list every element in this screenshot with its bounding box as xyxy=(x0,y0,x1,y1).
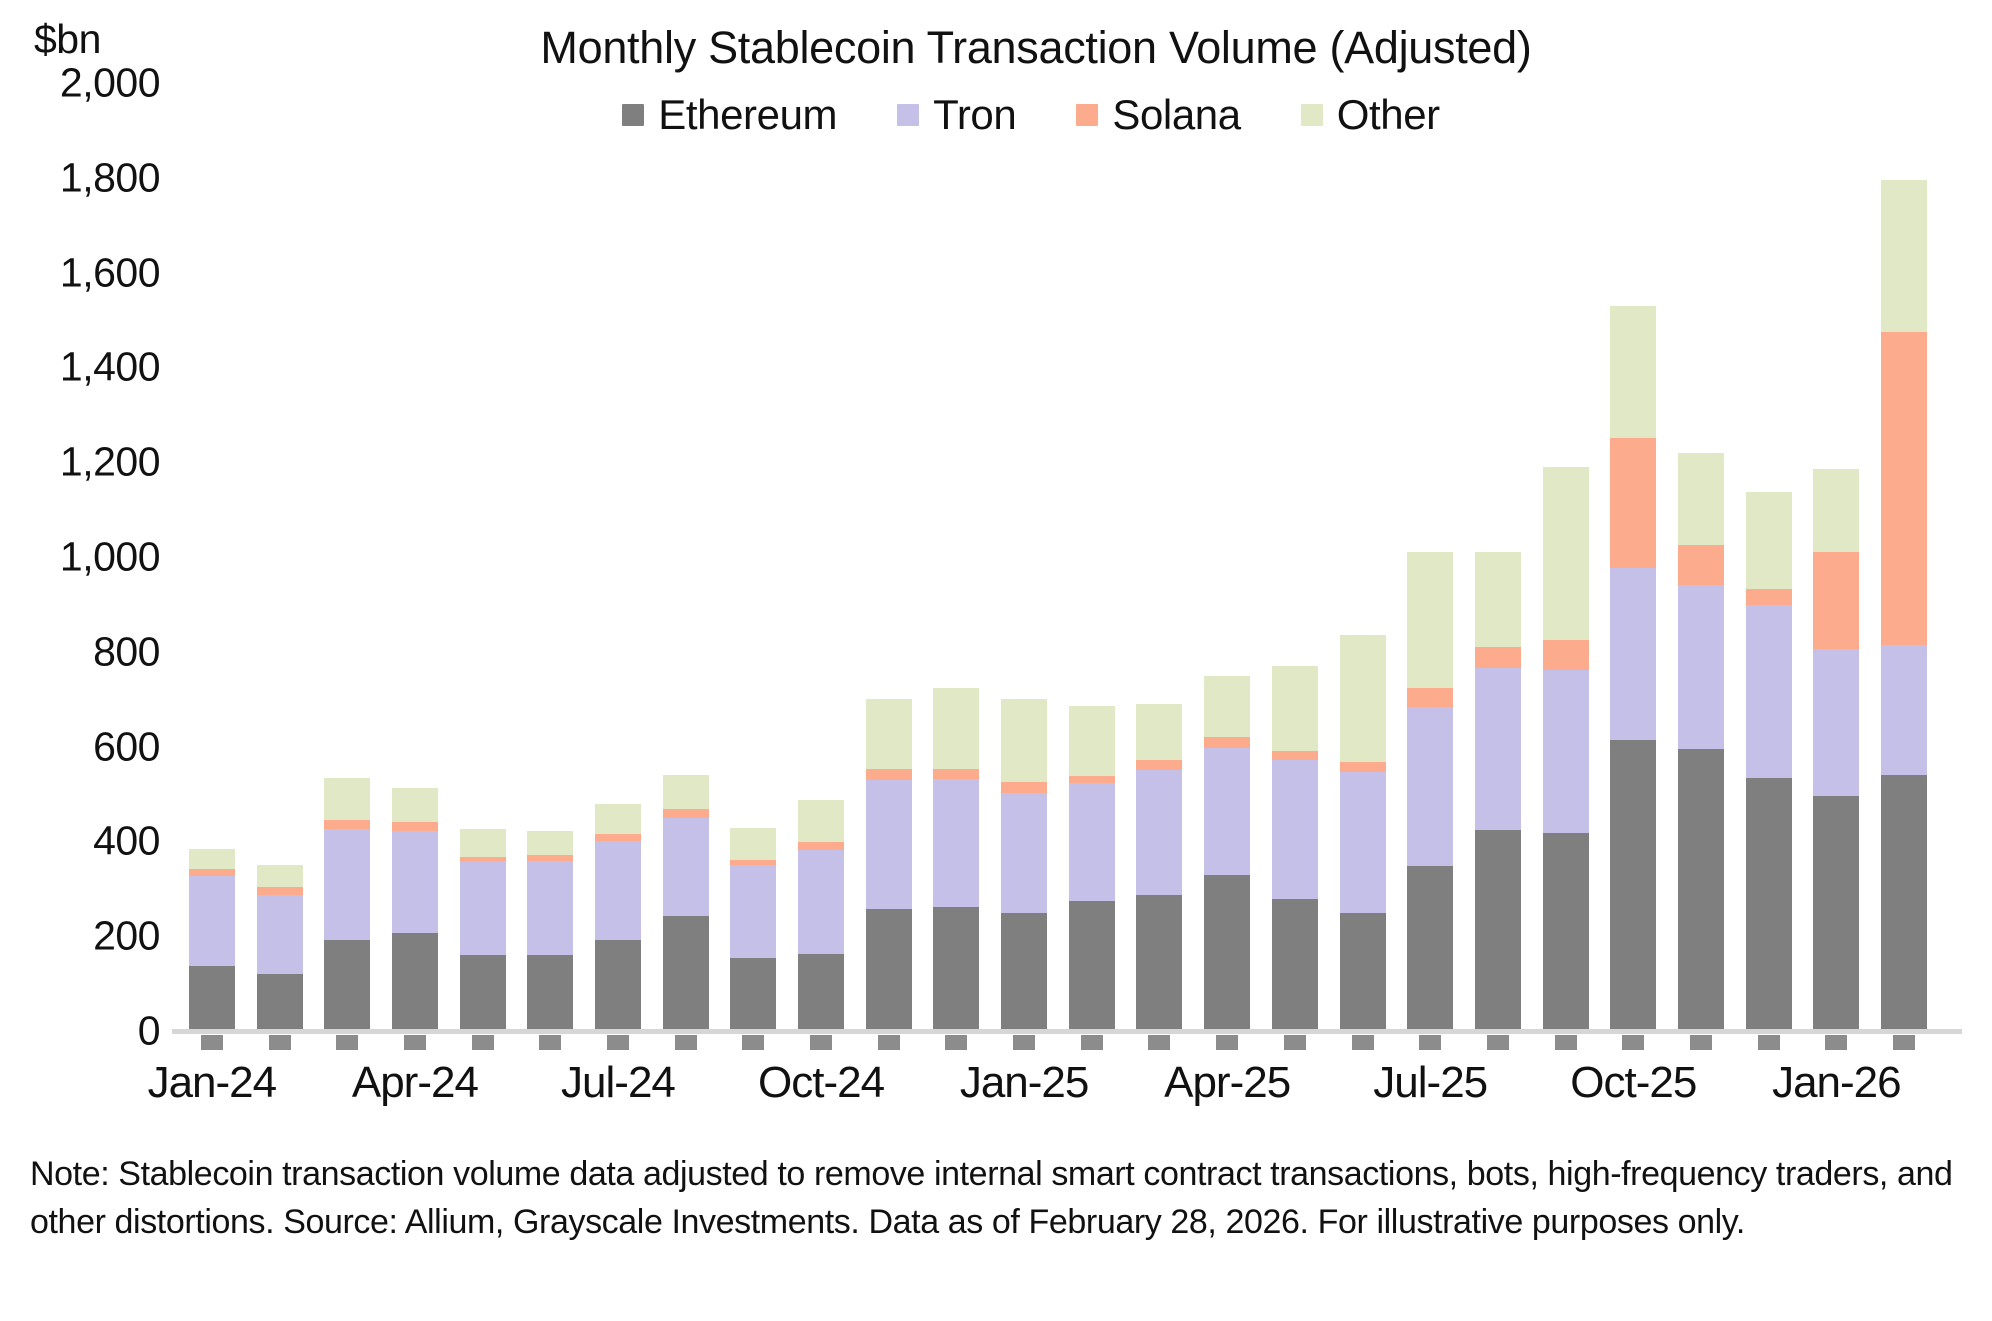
bar-segment-other xyxy=(1610,306,1656,438)
bar-segment-other xyxy=(1475,552,1521,647)
bar-segment-solana xyxy=(1610,438,1656,568)
stacked-bar[interactable] xyxy=(1813,469,1859,1031)
y-axis-tick-label: 2,000 xyxy=(60,60,160,107)
bar-segment-tron xyxy=(1407,707,1453,866)
x-axis-tickmark xyxy=(1758,1035,1780,1050)
bar-slot xyxy=(178,83,246,1031)
bar-segment-other xyxy=(1136,704,1182,760)
y-axis-tick-label: 1,200 xyxy=(60,439,160,486)
bar-segment-ethereum xyxy=(933,907,979,1031)
y-axis-tick-label: 600 xyxy=(93,723,160,770)
bar-slot xyxy=(1126,83,1194,1031)
stacked-bar[interactable] xyxy=(527,831,573,1031)
bar-segment-ethereum xyxy=(1001,913,1047,1032)
bar-segment-solana xyxy=(866,769,912,780)
bar-segment-ethereum xyxy=(324,940,370,1031)
bar-segment-ethereum xyxy=(663,916,709,1031)
bar-segment-ethereum xyxy=(189,966,235,1031)
x-axis-tickmark xyxy=(404,1035,426,1050)
bar-segment-tron xyxy=(392,831,438,933)
bar-segment-solana xyxy=(798,842,844,850)
stacked-bar[interactable] xyxy=(1407,552,1453,1031)
x-axis-tickmark xyxy=(1419,1035,1441,1050)
y-axis-tick-label: 800 xyxy=(93,628,160,675)
bar-slot xyxy=(1870,83,1938,1031)
bar-segment-ethereum xyxy=(1813,796,1859,1031)
bar-slot xyxy=(1329,83,1397,1031)
x-axis-tickmark xyxy=(945,1035,967,1050)
bar-slot xyxy=(1803,83,1871,1031)
y-axis-tick-label: 1,800 xyxy=(60,154,160,201)
bar-segment-other xyxy=(1746,492,1792,589)
bar-segment-ethereum xyxy=(1407,866,1453,1031)
x-axis-slot: Jul-25 xyxy=(1396,1058,1464,1118)
x-axis-tickmark xyxy=(1555,1035,1577,1050)
bar-segment-other xyxy=(527,831,573,856)
x-axis-tickmark xyxy=(742,1035,764,1050)
bar-slot xyxy=(516,83,584,1031)
bar-slot xyxy=(1058,83,1126,1031)
bar-slot xyxy=(1667,83,1735,1031)
x-axis-tickmark xyxy=(675,1035,697,1050)
bar-slot xyxy=(1261,83,1329,1031)
bar-segment-tron xyxy=(1136,770,1182,894)
x-axis-tickmark xyxy=(1690,1035,1712,1050)
bar-segment-tron xyxy=(933,779,979,907)
stacked-bar[interactable] xyxy=(595,804,641,1031)
x-axis-slot xyxy=(652,1058,720,1118)
stacked-bar[interactable] xyxy=(1881,180,1927,1031)
x-axis-tickmark xyxy=(336,1035,358,1050)
bar-segment-solana xyxy=(595,834,641,841)
bar-slot xyxy=(584,83,652,1031)
bar-segment-tron xyxy=(1746,605,1792,778)
y-axis-tick-label: 1,400 xyxy=(60,344,160,391)
x-axis-slot xyxy=(1667,1058,1735,1118)
x-axis-tickmark xyxy=(1013,1035,1035,1050)
x-axis-labels: Jan-24Apr-24Jul-24Oct-24Jan-25Apr-25Jul-… xyxy=(178,1058,1938,1118)
bar-segment-other xyxy=(1204,676,1250,737)
bar-slot xyxy=(1599,83,1667,1031)
bar-segment-other xyxy=(730,828,776,860)
bar-segment-other xyxy=(392,788,438,822)
x-axis-tickmark xyxy=(1216,1035,1238,1050)
bar-slot xyxy=(381,83,449,1031)
bar-segment-solana xyxy=(1001,782,1047,793)
plot-wrapper: 2,0001,8001,6001,4001,2001,0008006004002… xyxy=(0,0,1992,1060)
chart-root: $bn Monthly Stablecoin Transaction Volum… xyxy=(0,0,1992,1321)
x-axis-slot: Apr-25 xyxy=(1193,1058,1261,1118)
bar-segment-solana xyxy=(1475,647,1521,668)
bar-segment-other xyxy=(1272,666,1318,751)
bar-segment-other xyxy=(189,849,235,869)
bar-segment-tron xyxy=(460,861,506,955)
bar-slot xyxy=(246,83,314,1031)
y-axis-tick-label: 400 xyxy=(93,818,160,865)
bar-segment-ethereum xyxy=(392,933,438,1031)
bar-segment-tron xyxy=(1204,748,1250,875)
bar-segment-solana xyxy=(933,769,979,778)
bar-segment-solana xyxy=(1069,776,1115,783)
x-axis-baseline xyxy=(172,1029,1962,1034)
bar-segment-tron xyxy=(1543,670,1589,833)
bar-segment-tron xyxy=(798,850,844,953)
bar-segment-other xyxy=(595,804,641,833)
bar-slot xyxy=(1464,83,1532,1031)
x-axis-slot xyxy=(1058,1058,1126,1118)
bar-segment-ethereum xyxy=(1069,901,1115,1031)
stacked-bar[interactable] xyxy=(1069,706,1115,1031)
stacked-bar[interactable] xyxy=(933,688,979,1031)
bar-slot xyxy=(923,83,991,1031)
x-axis-tickmark xyxy=(1352,1035,1374,1050)
y-axis-tick-label: 200 xyxy=(93,913,160,960)
bar-segment-tron xyxy=(595,841,641,940)
plot-area xyxy=(178,83,1938,1031)
bar-segment-tron xyxy=(866,780,912,909)
x-axis-slot: Oct-25 xyxy=(1599,1058,1667,1118)
stacked-bar[interactable] xyxy=(189,849,235,1031)
bar-segment-ethereum xyxy=(1340,913,1386,1032)
x-axis-tickmark xyxy=(878,1035,900,1050)
stacked-bar[interactable] xyxy=(1678,453,1724,1031)
x-axis-tickmark xyxy=(1893,1035,1915,1050)
bar-segment-solana xyxy=(324,820,370,829)
x-axis-tickmark xyxy=(1487,1035,1509,1050)
x-axis-tickmark xyxy=(1081,1035,1103,1050)
bar-segment-other xyxy=(324,778,370,820)
bar-segment-tron xyxy=(1069,783,1115,901)
stacked-bar[interactable] xyxy=(1610,306,1656,1031)
bar-slot xyxy=(1532,83,1600,1031)
stacked-bar[interactable] xyxy=(1475,552,1521,1031)
bar-segment-ethereum xyxy=(730,958,776,1031)
bar-segment-solana xyxy=(663,809,709,818)
bar-segment-tron xyxy=(1475,668,1521,829)
stacked-bar[interactable] xyxy=(1340,635,1386,1031)
bar-segment-other xyxy=(933,688,979,770)
x-axis-tickmark xyxy=(1622,1035,1644,1050)
bar-segment-solana xyxy=(257,887,303,894)
bar-segment-tron xyxy=(324,829,370,939)
bar-segment-other xyxy=(798,800,844,843)
bar-segment-tron xyxy=(1610,568,1656,740)
stacked-bar[interactable] xyxy=(392,788,438,1031)
stacked-bar[interactable] xyxy=(663,775,709,1031)
bar-segment-tron xyxy=(257,895,303,975)
bar-segment-solana xyxy=(1881,332,1927,645)
bar-segment-other xyxy=(1001,699,1047,782)
bar-segment-other xyxy=(257,865,303,887)
stacked-bar[interactable] xyxy=(1272,666,1318,1031)
stacked-bar[interactable] xyxy=(798,800,844,1031)
bar-segment-tron xyxy=(189,876,235,966)
bar-segment-solana xyxy=(1204,737,1250,747)
stacked-bar[interactable] xyxy=(1001,699,1047,1031)
x-axis-slot: Jan-25 xyxy=(990,1058,1058,1118)
x-axis-tickmark xyxy=(1284,1035,1306,1050)
x-axis-slot: Jan-24 xyxy=(178,1058,246,1118)
bar-segment-solana xyxy=(1813,552,1859,649)
bar-segment-other xyxy=(460,829,506,856)
bar-segment-other xyxy=(1543,467,1589,639)
bar-segment-tron xyxy=(1813,649,1859,796)
bar-segment-other xyxy=(1407,552,1453,689)
stacked-bar[interactable] xyxy=(1204,676,1250,1031)
bar-segment-tron xyxy=(1881,645,1927,775)
bar-segment-solana xyxy=(1136,760,1182,770)
y-axis-tick-label: 1,600 xyxy=(60,249,160,296)
bar-segment-other xyxy=(1813,469,1859,552)
bar-slot xyxy=(990,83,1058,1031)
bar-segment-other xyxy=(1069,706,1115,776)
x-axis-tickmark xyxy=(1148,1035,1170,1050)
x-axis-tickmark xyxy=(472,1035,494,1050)
bar-slot xyxy=(313,83,381,1031)
bar-segment-solana xyxy=(1340,762,1386,771)
bar-segment-ethereum xyxy=(1678,749,1724,1031)
bar-segment-solana xyxy=(1543,640,1589,671)
bar-segment-tron xyxy=(663,818,709,916)
bar-slot xyxy=(720,83,788,1031)
stacked-bar[interactable] xyxy=(730,828,776,1031)
bar-segment-tron xyxy=(1340,772,1386,913)
stacked-bar[interactable] xyxy=(257,865,303,1031)
x-axis-tickmark xyxy=(269,1035,291,1050)
x-axis-slot: Jan-26 xyxy=(1803,1058,1871,1118)
bar-segment-solana xyxy=(1272,751,1318,760)
x-axis-slot: Jul-24 xyxy=(584,1058,652,1118)
bar-segment-tron xyxy=(1001,793,1047,912)
y-axis: 2,0001,8001,6001,4001,2001,0008006004002… xyxy=(0,0,160,1060)
x-axis-tickmark xyxy=(201,1035,223,1050)
x-axis-slot xyxy=(246,1058,314,1118)
stacked-bar[interactable] xyxy=(1543,467,1589,1031)
bar-segment-ethereum xyxy=(1746,778,1792,1031)
stacked-bar[interactable] xyxy=(460,829,506,1031)
y-axis-tick-label: 0 xyxy=(138,1008,160,1055)
stacked-bar[interactable] xyxy=(324,778,370,1031)
bar-slot xyxy=(1193,83,1261,1031)
bar-segment-ethereum xyxy=(1136,895,1182,1032)
bar-segment-tron xyxy=(730,865,776,957)
x-axis-slot: Apr-24 xyxy=(381,1058,449,1118)
x-axis-tickmark xyxy=(539,1035,561,1050)
bar-segment-ethereum xyxy=(1272,899,1318,1031)
stacked-bar[interactable] xyxy=(1746,492,1792,1031)
bar-segment-solana xyxy=(1746,589,1792,606)
x-axis-slot xyxy=(855,1058,923,1118)
bar-segment-tron xyxy=(527,861,573,955)
bar-segment-solana xyxy=(1407,688,1453,707)
bar-segment-solana xyxy=(1678,545,1724,585)
bar-segment-tron xyxy=(1678,585,1724,749)
stacked-bar[interactable] xyxy=(866,699,912,1031)
bar-segment-solana xyxy=(392,822,438,831)
bar-segment-other xyxy=(1881,180,1927,332)
bar-segment-ethereum xyxy=(1881,775,1927,1031)
bar-slot xyxy=(1735,83,1803,1031)
bar-slot xyxy=(855,83,923,1031)
x-axis-tickmark xyxy=(607,1035,629,1050)
x-axis-slot xyxy=(1870,1058,1938,1118)
bar-slot xyxy=(1396,83,1464,1031)
chart-footnote: Note: Stablecoin transaction volume data… xyxy=(30,1150,1960,1247)
bar-segment-ethereum xyxy=(460,955,506,1031)
bar-segment-other xyxy=(1340,635,1386,762)
bar-slot xyxy=(652,83,720,1031)
y-axis-tick-label: 1,000 xyxy=(60,534,160,581)
bar-slot xyxy=(449,83,517,1031)
x-axis-slot xyxy=(449,1058,517,1118)
bar-segment-other xyxy=(866,699,912,769)
bar-segment-ethereum xyxy=(798,954,844,1031)
bar-segment-ethereum xyxy=(1543,833,1589,1031)
bar-segment-ethereum xyxy=(257,974,303,1031)
bar-segment-ethereum xyxy=(1610,740,1656,1031)
bar-segment-ethereum xyxy=(527,955,573,1031)
x-axis-slot xyxy=(1261,1058,1329,1118)
x-axis-tickmark xyxy=(810,1035,832,1050)
stacked-bar[interactable] xyxy=(1136,704,1182,1031)
x-axis-slot: Oct-24 xyxy=(787,1058,855,1118)
bar-segment-ethereum xyxy=(866,909,912,1031)
bar-segment-ethereum xyxy=(595,940,641,1031)
bar-segment-tron xyxy=(1272,760,1318,899)
x-axis-tickmark xyxy=(1825,1035,1847,1050)
bar-segment-ethereum xyxy=(1204,875,1250,1031)
bar-segment-other xyxy=(663,775,709,809)
x-axis-slot xyxy=(1464,1058,1532,1118)
bar-segment-other xyxy=(1678,453,1724,545)
bar-slot xyxy=(787,83,855,1031)
bar-segment-ethereum xyxy=(1475,830,1521,1031)
bar-series-container xyxy=(178,83,1938,1031)
